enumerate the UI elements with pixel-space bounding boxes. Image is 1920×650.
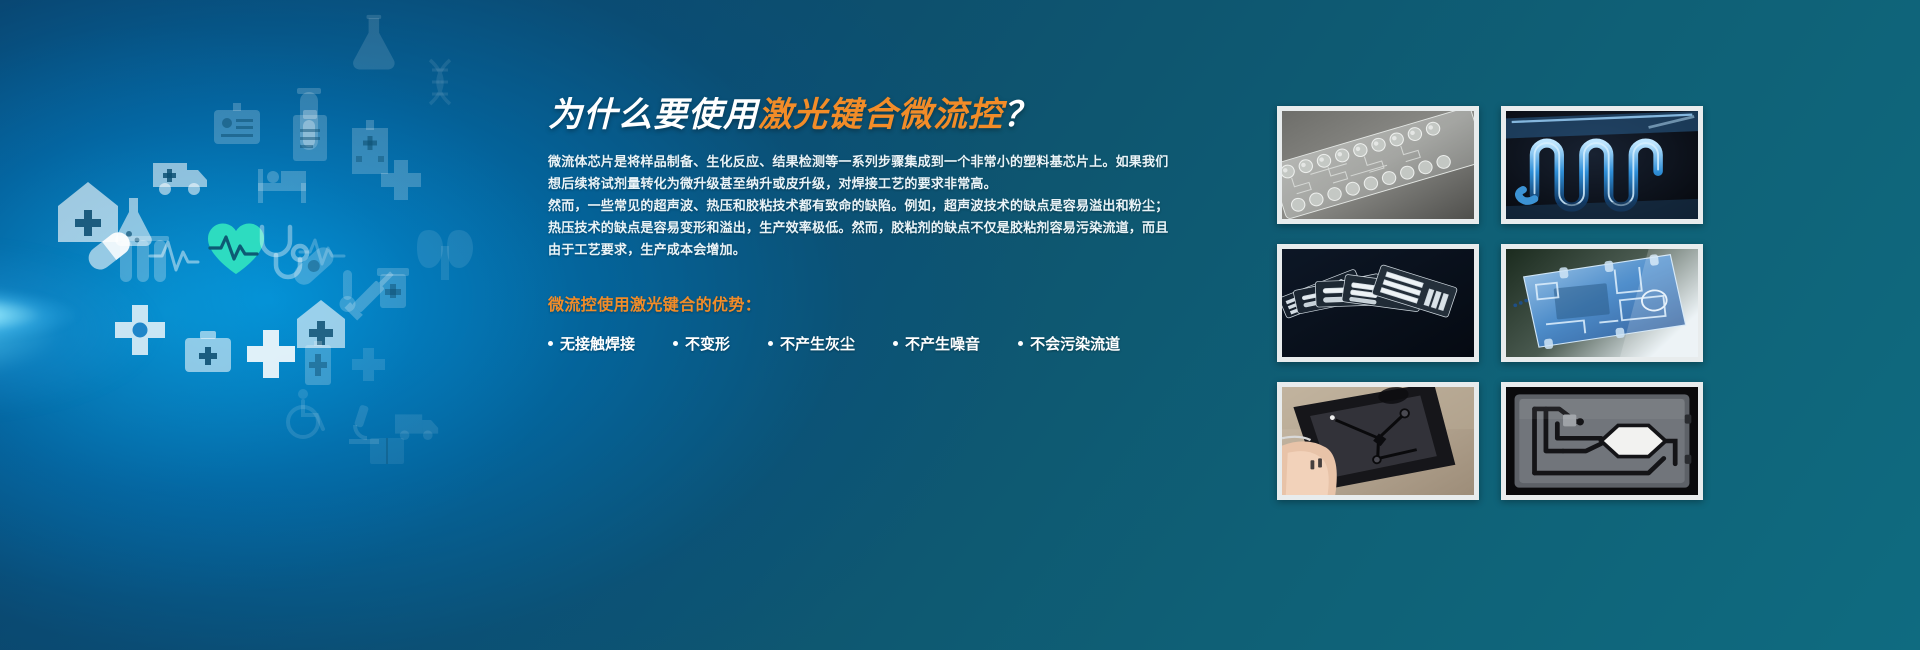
book-icon <box>370 438 404 464</box>
bullet-dot-icon <box>673 341 678 346</box>
paragraph-line: 热压技术的缺点是容易变形和溢出，生产效率极低。然而，胶粘剂的缺点不仅是胶粘剂容易… <box>548 217 1208 239</box>
blue-cartridge-illustration <box>1506 249 1698 357</box>
gallery-image-chip-array-fan[interactable] <box>1277 244 1479 362</box>
ecg-line-icon <box>150 242 198 270</box>
page-title: 为什么要使用激光键合微流控？ <box>548 96 1208 134</box>
paragraph-line: 由于工艺要求，生产成本会增加。 <box>548 239 1208 261</box>
flask-icon <box>353 15 395 70</box>
cross-icon <box>247 330 295 378</box>
test-tube-icon <box>297 88 321 150</box>
house-plus-icon <box>297 300 345 348</box>
first-aid-kit-icon <box>185 331 231 372</box>
bullet-dot-icon <box>1018 341 1023 346</box>
bullet-dot-icon <box>768 341 773 346</box>
laser-beam-glow <box>0 120 440 540</box>
bullet-dot-icon <box>548 341 553 346</box>
paragraph-line: 想后续将试剂量转化为微升级甚至纳升或皮升级，对焊接工艺的要求非常高。 <box>548 173 1208 195</box>
promo-banner: 为什么要使用激光键合微流控？ 微流体芯片是将样品制备、生化反应、结果检测等一系列… <box>0 0 1920 650</box>
gallery-image-black-chip-reaction-chamber[interactable] <box>1501 382 1703 500</box>
list-item: 不产生灰尘 <box>768 333 855 354</box>
product-gallery <box>1277 106 1703 500</box>
list-item: 不变形 <box>673 333 730 354</box>
black-chip-illustration <box>1506 387 1698 495</box>
bullet-dot-icon <box>893 341 898 346</box>
headline-highlight: 激光键合微流控 <box>758 96 1003 134</box>
cross-icon <box>381 160 421 200</box>
gallery-image-blue-cartridge-clear[interactable] <box>1501 244 1703 362</box>
heart-ecg-icon <box>208 223 264 274</box>
cross-icon <box>115 305 165 355</box>
bed-icon <box>258 169 306 203</box>
serpentine-channel-illustration <box>1506 111 1698 219</box>
battery-icon <box>305 341 331 385</box>
stethoscope-icon <box>262 227 307 277</box>
description-paragraph: 微流体芯片是将样品制备、生化反应、结果检测等一系列步骤集成到一个非常小的塑料基芯… <box>548 151 1208 261</box>
advantage-label: 不产生噪音 <box>905 333 980 354</box>
kidney-icon <box>417 230 473 280</box>
test-tube-icon <box>117 236 169 282</box>
headline-suffix: ？ <box>1003 96 1038 134</box>
chip-array-fan-illustration <box>1282 249 1474 357</box>
laser-beam-core <box>0 255 260 375</box>
paragraph-line: 然而，一些常见的超声波、热压和胶粘技术都有致命的缺陷。例如，超声波技术的缺点是容… <box>548 195 1208 217</box>
advantage-label: 不变形 <box>685 333 730 354</box>
flask-icon <box>115 198 152 246</box>
content-column: 为什么要使用激光键合微流控？ 微流体芯片是将样品制备、生化反应、结果检测等一系列… <box>548 96 1208 354</box>
list-item: 不产生噪音 <box>893 333 980 354</box>
gallery-image-serpentine-channel-blue[interactable] <box>1501 106 1703 224</box>
syringe-icon <box>344 267 398 321</box>
microfluidic-chip-wells-illustration <box>1282 111 1474 219</box>
headline-prefix: 为什么要使用 <box>548 96 758 134</box>
list-item: 无接触焊接 <box>548 333 635 354</box>
microscope-icon <box>349 404 379 444</box>
dna-icon <box>430 60 450 104</box>
advantage-label: 不产生灰尘 <box>780 333 855 354</box>
clipboard-icon <box>293 110 327 161</box>
gallery-image-microfluidic-chip-wells[interactable] <box>1277 106 1479 224</box>
advantage-label: 无接触焊接 <box>560 333 635 354</box>
pill-icon <box>377 268 409 308</box>
gallery-image-handheld-black-cartridge[interactable] <box>1277 382 1479 500</box>
ambulance-icon <box>395 414 438 440</box>
ambulance-icon <box>153 163 207 195</box>
list-item: 不会污染流道 <box>1018 333 1120 354</box>
thermometer-icon <box>340 270 356 312</box>
id-badge-icon <box>214 103 260 144</box>
advantages-subheading: 微流控使用激光键合的优势： <box>548 291 1208 315</box>
cross-icon <box>352 348 385 381</box>
bandage-icon <box>290 243 338 289</box>
house-plus-icon <box>58 182 118 242</box>
handheld-cartridge-illustration <box>1282 387 1474 495</box>
hospital-icon <box>352 120 388 174</box>
wheelchair-icon <box>288 389 323 437</box>
advantages-list: 无接触焊接 不变形 不产生灰尘 不产生噪音 不会污染流道 <box>548 333 1208 354</box>
capsule-icon <box>84 228 134 274</box>
ecg-line-icon <box>300 240 344 264</box>
advantage-label: 不会污染流道 <box>1030 333 1120 354</box>
paragraph-line: 微流体芯片是将样品制备、生化反应、结果检测等一系列步骤集成到一个非常小的塑料基芯… <box>548 151 1208 173</box>
